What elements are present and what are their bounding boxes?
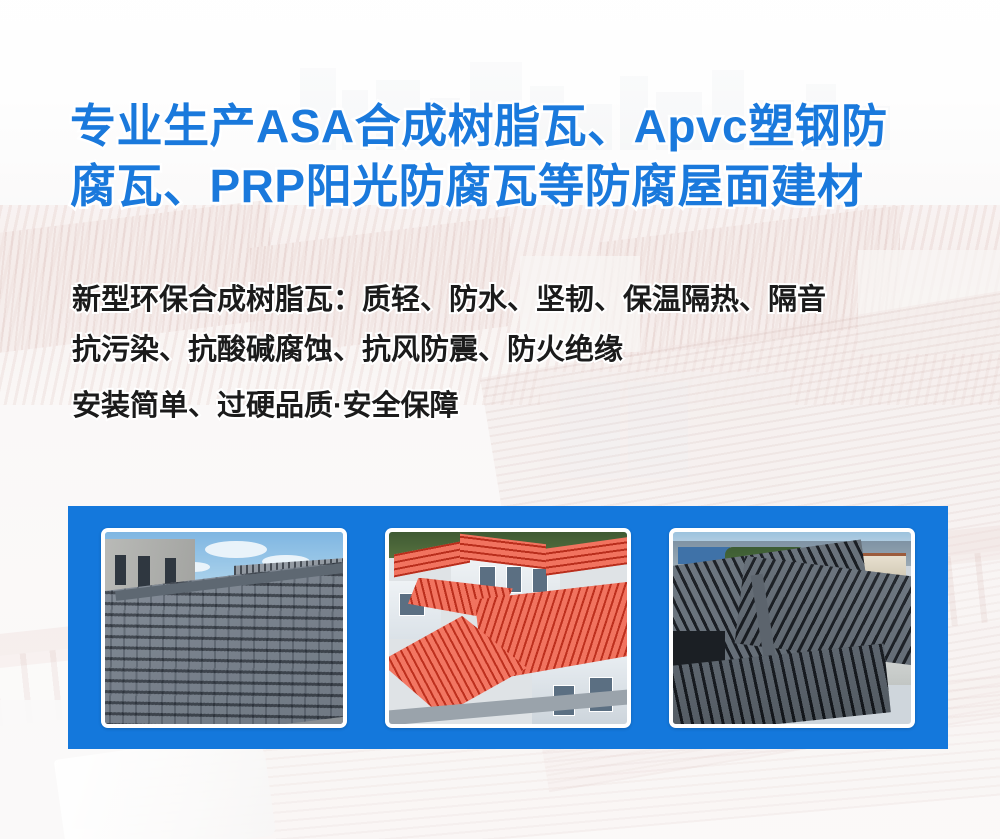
banner-content: 专业生产ASA合成树脂瓦、Apvc塑钢防 腐瓦、PRP阳光防腐瓦等防腐屋面建材 … (0, 0, 1000, 839)
photo-frame-1[interactable] (101, 528, 347, 728)
photo-grey-resin-tile-roof (105, 532, 343, 724)
photo-frame-3[interactable] (669, 528, 915, 728)
photo-gallery-panel (68, 506, 948, 749)
photo-red-synthetic-resin-roof (389, 532, 627, 724)
photo1-window-a (115, 555, 127, 586)
subheadline-line-3: 安装简单、过硬品质·安全保障 (72, 381, 972, 431)
photo-black-resin-tile-roof (673, 532, 911, 724)
photo1-window-b (138, 556, 150, 587)
banner-subheadline: 新型环保合成树脂瓦：质轻、防水、坚韧、保温隔热、隔音 抗污染、抗酸碱腐蚀、抗风防… (72, 275, 972, 431)
photo-row (68, 506, 948, 749)
headline-line-2: 腐瓦、PRP阳光防腐瓦等防腐屋面建材 (70, 156, 960, 216)
subheadline-line-2: 抗污染、抗酸碱腐蚀、抗风防震、防火绝缘 (72, 325, 972, 375)
product-banner: 专业生产ASA合成树脂瓦、Apvc塑钢防 腐瓦、PRP阳光防腐瓦等防腐屋面建材 … (0, 0, 1000, 839)
banner-headline: 专业生产ASA合成树脂瓦、Apvc塑钢防 腐瓦、PRP阳光防腐瓦等防腐屋面建材 (70, 96, 960, 216)
photo-frame-2[interactable] (385, 528, 631, 728)
subheadline-line-1: 新型环保合成树脂瓦：质轻、防水、坚韧、保温隔热、隔音 (72, 275, 972, 325)
headline-line-1: 专业生产ASA合成树脂瓦、Apvc塑钢防 (70, 96, 960, 156)
